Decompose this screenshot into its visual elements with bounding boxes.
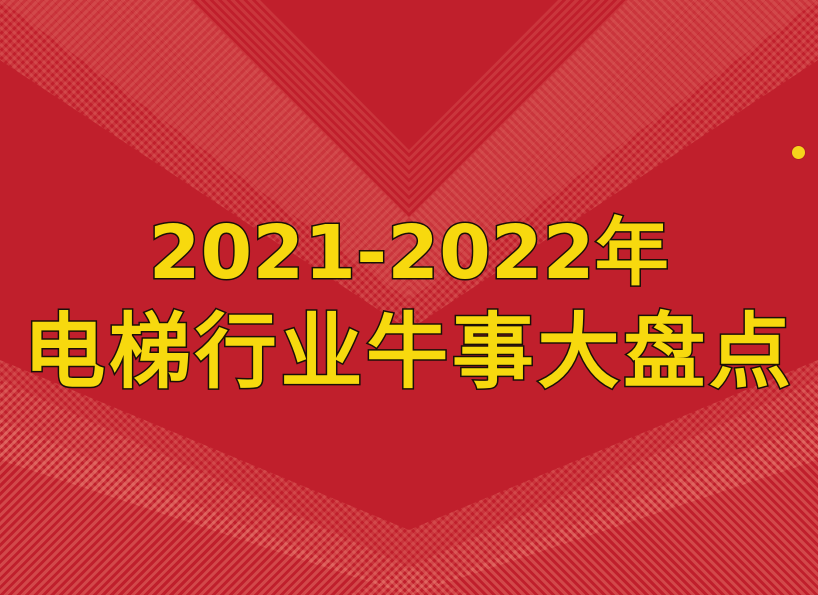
headline-block: 2021-2022年 电梯行业牛事大盘点 [0,0,818,595]
headline-main-line: 电梯行业牛事大盘点 [23,312,794,394]
headline-year-line: 2021-2022年 [149,216,669,290]
poster-canvas: 2021-2022年 电梯行业牛事大盘点 [0,0,818,595]
